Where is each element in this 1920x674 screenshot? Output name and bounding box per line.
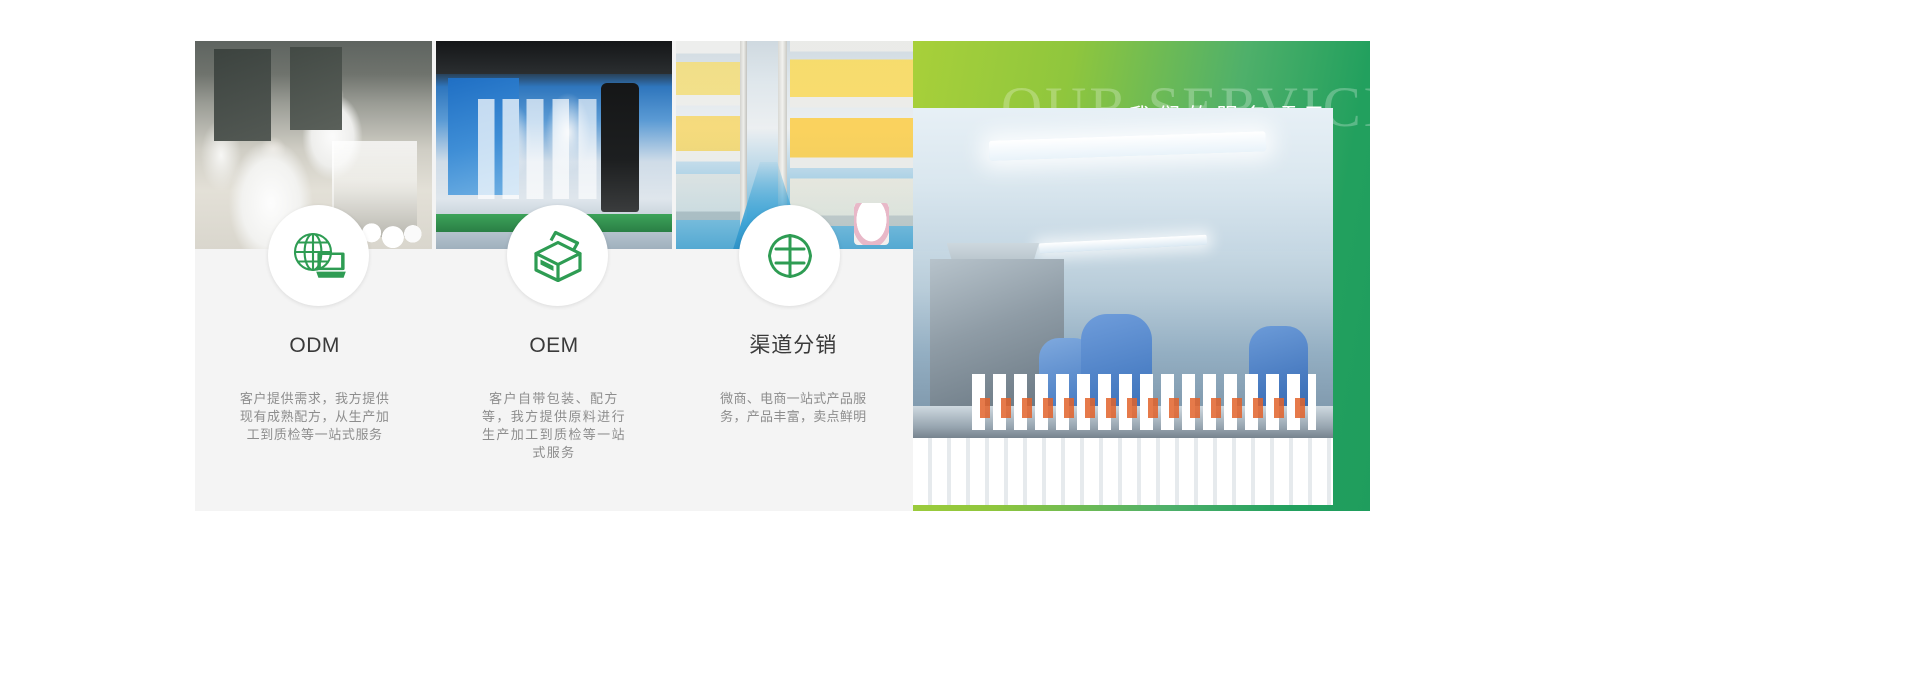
service-title-oem: OEM — [446, 333, 661, 358]
service-column-oem: OEM 客户自带包装、配方等，我方提供原料进行生产加工到质检等一站式服务 — [434, 333, 673, 462]
services-right-panel: OUR SERVICES 我们的服务项目 — [913, 41, 1370, 511]
services-left-panel: ODM 客户提供需求，我方提供现有成熟配方，从生产加工到质检等一站式服务 OEM… — [195, 41, 913, 511]
packaging-nozzle-shape — [601, 83, 639, 212]
leaf-icon — [763, 229, 817, 283]
service-column-distribution: 渠道分销 微商、电商一站式产品服务，产品丰富，卖点鲜明 — [674, 333, 913, 462]
services-section: ODM 客户提供需求，我方提供现有成熟配方，从生产加工到质检等一站式服务 OEM… — [0, 0, 1920, 674]
service-icon-badge-distribution[interactable] — [739, 205, 840, 306]
service-columns: ODM 客户提供需求，我方提供现有成熟配方，从生产加工到质检等一站式服务 OEM… — [195, 333, 913, 462]
service-title-odm: ODM — [207, 333, 422, 358]
service-icon-badge-odm[interactable] — [268, 205, 369, 306]
production-workshop-photo — [913, 108, 1333, 505]
service-title-distribution: 渠道分销 — [686, 333, 901, 358]
service-desc-odm: 客户提供需求，我方提供现有成熟配方，从生产加工到质检等一站式服务 — [240, 390, 390, 444]
service-desc-distribution: 微商、电商一站式产品服务，产品丰富，卖点鲜明 — [713, 390, 873, 426]
service-icon-badge-oem[interactable] — [507, 205, 608, 306]
service-icon-row — [195, 205, 913, 310]
workshop-bottle-tray — [913, 438, 1333, 505]
service-column-odm: ODM 客户提供需求，我方提供现有成熟配方，从生产加工到质检等一站式服务 — [195, 333, 434, 462]
open-box-icon — [531, 230, 585, 282]
globe-laptop-icon — [292, 231, 346, 281]
workshop-ceiling — [913, 108, 1333, 251]
service-desc-oem: 客户自带包装、配方等，我方提供原料进行生产加工到质检等一站式服务 — [478, 390, 630, 462]
workshop-bottle-labels — [980, 398, 1308, 418]
